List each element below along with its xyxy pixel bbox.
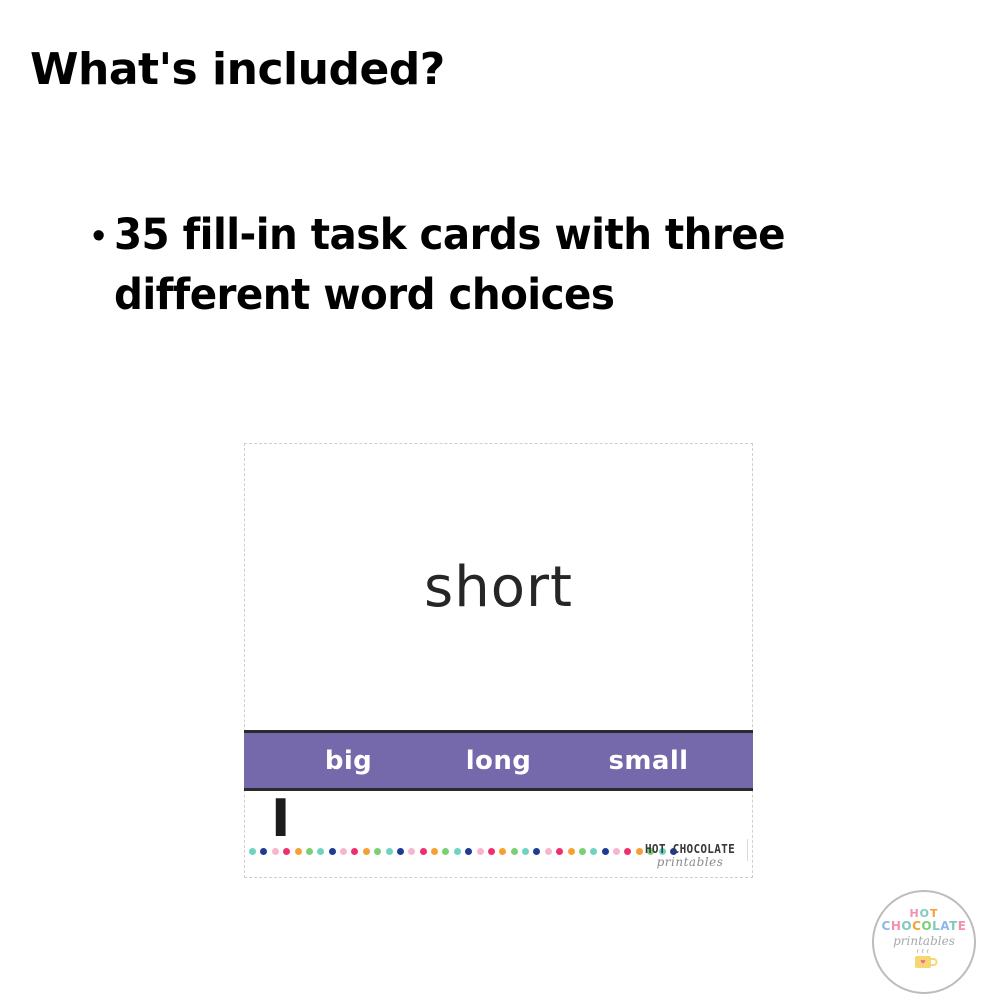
decorative-dot (624, 848, 631, 855)
decorative-dot (579, 848, 586, 855)
decorative-dot (260, 848, 267, 855)
decorative-dot (590, 848, 597, 855)
decorative-dot (431, 848, 438, 855)
watermark-letter: C (912, 919, 921, 933)
bullet-marker-icon: • (92, 205, 114, 267)
decorative-dot (442, 848, 449, 855)
decorative-dot (568, 848, 575, 855)
decorative-dot (602, 848, 609, 855)
decorative-dot (465, 848, 472, 855)
decorative-dot (511, 848, 518, 855)
decorative-dot (545, 848, 552, 855)
decorative-dot (613, 848, 620, 855)
answer-text: I (271, 793, 290, 845)
choice-option-big[interactable]: big (274, 746, 424, 776)
decorative-dot (374, 848, 381, 855)
watermark-printables-text: printables (893, 934, 955, 948)
watermark-badge: HOT CHOCOLATE printables (872, 890, 976, 994)
page-title: What's included? (30, 44, 445, 95)
decorative-dot (249, 848, 256, 855)
card-logo-subtitle: printables (638, 855, 742, 869)
watermark-letter: A (940, 919, 949, 933)
watermark-letter: T (949, 919, 958, 933)
decorative-dot (317, 848, 324, 855)
list-item: • 35 fill-in task cards with three diffe… (92, 205, 882, 325)
mug-icon (909, 949, 939, 976)
card-prompt-word: short (424, 555, 573, 620)
decorative-dot (295, 848, 302, 855)
bullet-text: 35 fill-in task cards with three differe… (114, 205, 836, 325)
card-logo-title: HOT CHOCOLATE (642, 842, 738, 856)
decorative-dot (386, 848, 393, 855)
card-answer-area: I HOT CHOCOLATE printables (245, 791, 752, 877)
decorative-dot (488, 848, 495, 855)
watermark-letter: O (921, 919, 932, 933)
decorative-dot (522, 848, 529, 855)
decorative-dot (340, 848, 347, 855)
decorative-dot (420, 848, 427, 855)
decorative-dot (351, 848, 358, 855)
watermark-letter: L (932, 919, 940, 933)
task-card-preview: short big long small I HOT CHOCOLATE pri… (244, 443, 753, 878)
choice-option-small[interactable]: small (574, 746, 724, 776)
decorative-dot (454, 848, 461, 855)
decorative-dot (272, 848, 279, 855)
choice-option-long[interactable]: long (424, 746, 574, 776)
bullet-list: • 35 fill-in task cards with three diffe… (92, 205, 882, 325)
watermark-chocolate-text: CHOCOLATE (882, 920, 967, 933)
decorative-dot (408, 848, 415, 855)
watermark-letter: H (891, 919, 902, 933)
card-choices-bar: big long small (244, 730, 753, 791)
decorative-dot (533, 848, 540, 855)
watermark-letter: C (882, 919, 891, 933)
decorative-dot (397, 848, 404, 855)
watermark-letter: O (901, 919, 912, 933)
decorative-dot (306, 848, 313, 855)
decorative-dot (283, 848, 290, 855)
decorative-dot (329, 848, 336, 855)
decorative-dot (556, 848, 563, 855)
decorative-dot (363, 848, 370, 855)
watermark-letter: E (958, 919, 967, 933)
decorative-dot-strip (249, 847, 677, 856)
decorative-dot (477, 848, 484, 855)
card-footer-logo: HOT CHOCOLATE printables (638, 842, 742, 869)
card-prompt-area: short (245, 444, 752, 730)
decorative-dot (499, 848, 506, 855)
card-logo-divider (747, 839, 748, 861)
